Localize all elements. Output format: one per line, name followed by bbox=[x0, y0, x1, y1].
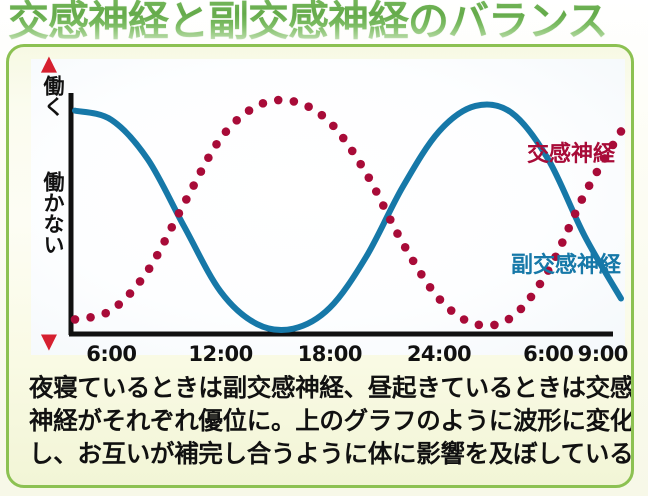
sympathetic-dot bbox=[304, 102, 313, 111]
x-axis-tick-label: 24:00 bbox=[407, 341, 471, 367]
chart: ▲ 働く 働かない ▼ 交感神経 副交感神経 6:0012:0018:0024:… bbox=[9, 47, 634, 369]
sympathetic-dot bbox=[126, 289, 135, 298]
sympathetic-dot bbox=[339, 134, 348, 143]
legend-label-sympathetic: 交感神経 bbox=[527, 143, 615, 167]
legend-label-parasympathetic: 副交感神経 bbox=[511, 254, 621, 278]
sympathetic-dot bbox=[426, 283, 435, 292]
sympathetic-dot bbox=[372, 187, 381, 196]
sympathetic-dot bbox=[101, 309, 110, 318]
sympathetic-dot bbox=[348, 147, 357, 156]
caption-block: 夜寝ているときは副交感神経、昼起きているときは交感 神経がそれぞれ優位に。上のグ… bbox=[29, 371, 625, 483]
title-bar: 交感神経と副交感神経のバランス bbox=[0, 0, 648, 48]
sympathetic-dot bbox=[145, 264, 154, 273]
sympathetic-dot bbox=[204, 153, 213, 162]
sympathetic-dot bbox=[245, 106, 254, 115]
content-panel: ▲ 働く 働かない ▼ 交感神経 副交感神経 6:0012:0018:0024:… bbox=[6, 44, 634, 488]
sympathetic-dot bbox=[564, 224, 573, 233]
sympathetic-dot bbox=[571, 210, 580, 219]
sympathetic-dot bbox=[578, 195, 587, 204]
sympathetic-dot bbox=[318, 111, 327, 120]
caption-line-2: 神経がそれぞれ優位に。上のグラフのように波形に変化 bbox=[29, 404, 625, 437]
sympathetic-dot bbox=[436, 295, 445, 304]
x-axis-tick-label: 9:00 bbox=[578, 341, 628, 367]
sympathetic-dot bbox=[160, 237, 169, 246]
sympathetic-dot bbox=[447, 306, 456, 315]
sympathetic-dot bbox=[593, 168, 602, 177]
sympathetic-dot bbox=[86, 313, 95, 322]
x-axis-labels: 6:0012:0018:0024:006:009:00 bbox=[9, 341, 634, 369]
sympathetic-dot bbox=[175, 209, 184, 218]
sympathetic-dot bbox=[197, 167, 206, 176]
sympathetic-dot bbox=[536, 280, 545, 289]
page-title: 交感神経と副交感神経のバランス bbox=[8, 0, 607, 44]
sympathetic-dot bbox=[517, 305, 526, 314]
sympathetic-dot bbox=[393, 229, 402, 238]
chart-curves bbox=[9, 47, 634, 369]
sympathetic-dot bbox=[329, 122, 338, 131]
sympathetic-dot bbox=[490, 321, 499, 330]
sympathetic-dot bbox=[222, 127, 231, 136]
sympathetic-dot bbox=[364, 173, 373, 182]
sympathetic-dot bbox=[153, 251, 162, 260]
sympathetic-dot bbox=[290, 97, 299, 106]
sympathetic-dot bbox=[417, 270, 426, 279]
sympathetic-dot bbox=[379, 201, 388, 210]
sympathetic-dot bbox=[585, 181, 594, 190]
sympathetic-dot bbox=[232, 116, 241, 125]
x-axis-tick-label: 12:00 bbox=[188, 341, 252, 367]
sympathetic-dot bbox=[401, 243, 410, 252]
sympathetic-dot bbox=[460, 315, 469, 324]
parasympathetic-curve bbox=[75, 104, 621, 330]
sympathetic-dot bbox=[386, 215, 395, 224]
sympathetic-dot bbox=[189, 181, 198, 190]
sympathetic-dot bbox=[409, 257, 418, 266]
sympathetic-dot bbox=[617, 127, 626, 136]
sympathetic-curve bbox=[71, 96, 626, 329]
sympathetic-dot bbox=[274, 96, 283, 105]
x-axis-tick-label: 6:00 bbox=[523, 341, 573, 367]
sympathetic-dot bbox=[114, 300, 123, 309]
sympathetic-dot bbox=[558, 238, 567, 247]
sympathetic-dot bbox=[505, 315, 514, 324]
sympathetic-dot bbox=[527, 293, 536, 302]
caption-line-1: 夜寝ているときは副交感神経、昼起きているときは交感 bbox=[29, 371, 625, 404]
x-axis-tick-label: 6:00 bbox=[86, 341, 136, 367]
sympathetic-dot bbox=[182, 195, 191, 204]
sympathetic-dot bbox=[136, 277, 145, 286]
sympathetic-dot bbox=[475, 320, 484, 329]
caption-line-3: し、お互いが補完し合うように体に影響を及ぼしている bbox=[29, 437, 625, 470]
sympathetic-dot bbox=[356, 160, 365, 169]
sympathetic-dot bbox=[212, 140, 221, 149]
infographic-root: 交感神経と副交感神経のバランス ▲ 働く 働かない ▼ 交感神経 副交感神経 6… bbox=[0, 0, 648, 496]
sympathetic-dot bbox=[259, 99, 268, 108]
x-axis-tick-label: 18:00 bbox=[298, 341, 362, 367]
sympathetic-dot bbox=[167, 223, 176, 232]
sympathetic-dot bbox=[71, 315, 80, 324]
